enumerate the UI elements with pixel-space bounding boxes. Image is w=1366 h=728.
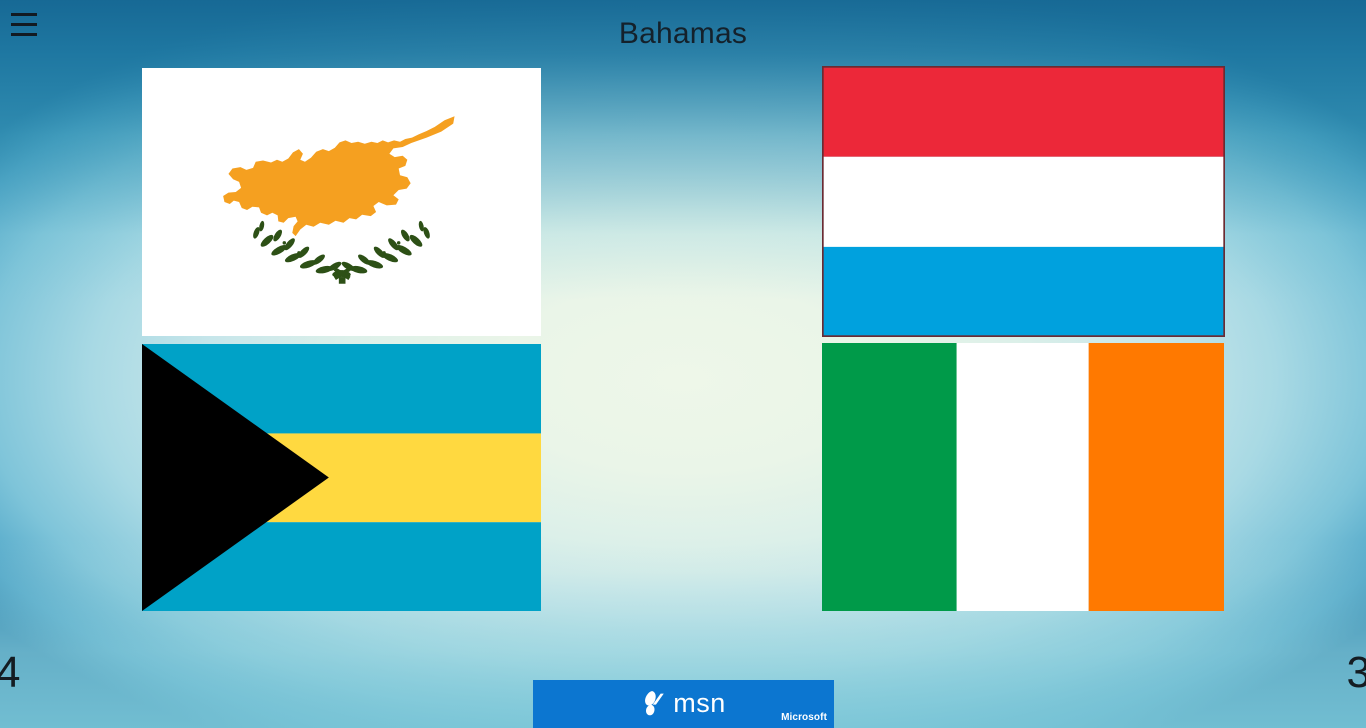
hamburger-line-1 xyxy=(11,13,37,16)
hamburger-menu-icon[interactable] xyxy=(11,13,37,36)
flag-option-bahamas[interactable] xyxy=(142,344,541,611)
flag-option-luxembourg[interactable] xyxy=(822,66,1225,337)
score-left: 4 xyxy=(0,649,20,697)
flag-cyprus-icon xyxy=(142,68,541,336)
score-right: 3 xyxy=(1347,649,1366,697)
flag-ireland-icon xyxy=(822,343,1224,611)
msn-ad-banner[interactable]: msn Microsoft xyxy=(533,680,834,728)
msn-logo-group: msn xyxy=(641,689,726,717)
msn-butterfly-icon xyxy=(641,689,667,717)
flag-option-cyprus[interactable] xyxy=(142,68,541,336)
msn-advertiser-label: Microsoft xyxy=(781,712,827,724)
hamburger-line-3 xyxy=(11,33,37,36)
flag-bahamas-icon xyxy=(142,344,541,611)
msn-wordmark: msn xyxy=(673,689,726,717)
flag-luxembourg-icon xyxy=(822,66,1225,337)
hamburger-line-2 xyxy=(11,23,37,26)
page-title: Bahamas xyxy=(0,16,1366,52)
flag-option-ireland[interactable] xyxy=(822,343,1224,611)
